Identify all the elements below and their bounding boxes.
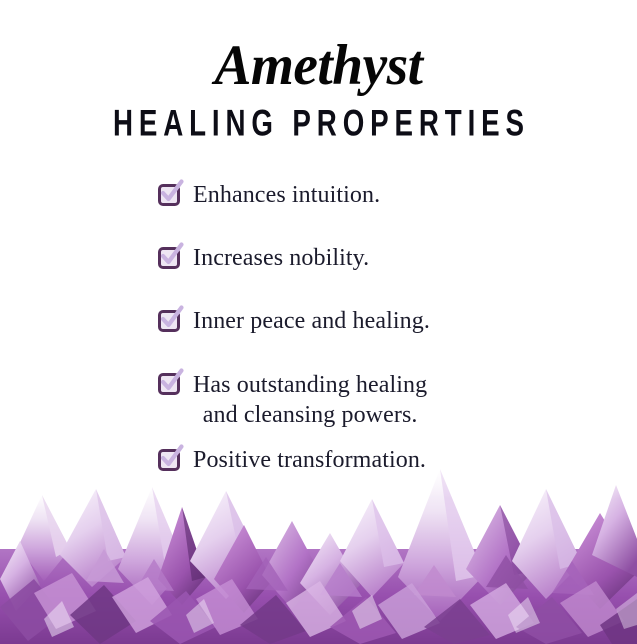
list-item: Has outstanding healing and cleansing po… bbox=[158, 370, 578, 430]
heading-block: Amethyst HEALING PROPERTIES bbox=[0, 34, 637, 142]
list-item: Enhances intuition. bbox=[158, 181, 578, 210]
page-title: Amethyst bbox=[10, 34, 628, 98]
list-item: Positive transformation. bbox=[158, 446, 578, 475]
list-item-label: Enhances intuition. bbox=[193, 181, 380, 210]
checked-checkbox-icon[interactable] bbox=[158, 373, 180, 395]
list-item: Increases nobility. bbox=[158, 244, 578, 273]
list-item: Inner peace and healing. bbox=[158, 307, 578, 336]
list-item-label: Increases nobility. bbox=[193, 244, 369, 273]
checked-checkbox-icon[interactable] bbox=[158, 310, 180, 332]
list-item-label: Positive transformation. bbox=[193, 446, 426, 475]
benefits-list: Enhances intuition. Increases nobility. … bbox=[158, 181, 578, 509]
page-subtitle: HEALING PROPERTIES bbox=[51, 102, 586, 145]
list-item-label: Has outstanding healing and cleansing po… bbox=[193, 370, 427, 430]
checked-checkbox-icon[interactable] bbox=[158, 449, 180, 471]
amethyst-poster: Amethyst HEALING PROPERTIES Enhances int… bbox=[0, 0, 637, 644]
list-item-label: Inner peace and healing. bbox=[193, 307, 430, 336]
checked-checkbox-icon[interactable] bbox=[158, 247, 180, 269]
checked-checkbox-icon[interactable] bbox=[158, 184, 180, 206]
